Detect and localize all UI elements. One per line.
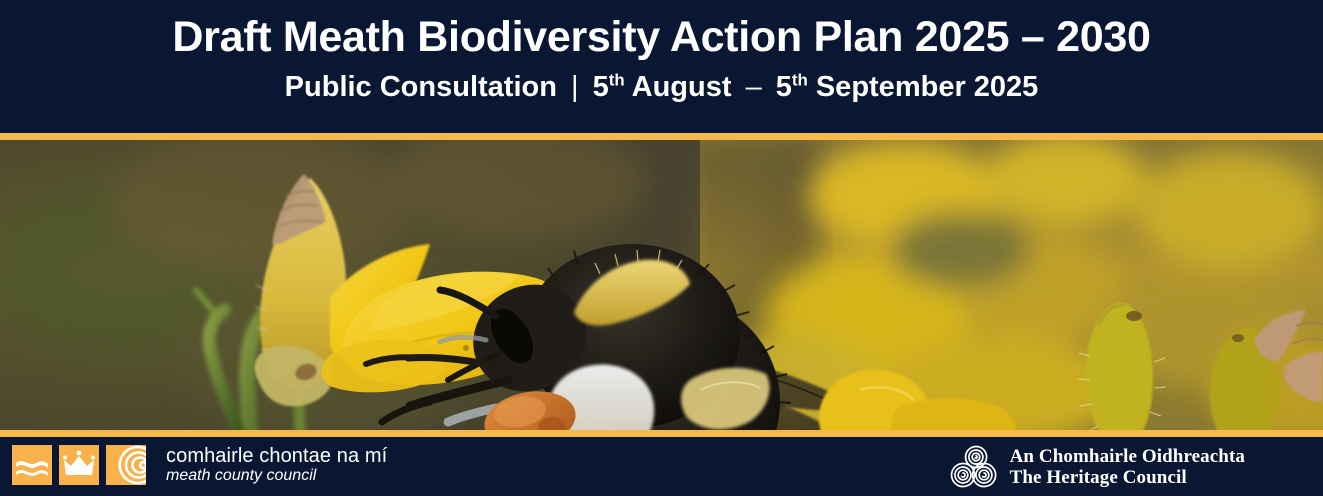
banner-header: Draft Meath Biodiversity Action Plan 202…	[0, 0, 1323, 133]
subtitle-ordinal-end: th	[792, 71, 808, 90]
mcc-name-irish: comhairle chontae na mí	[166, 445, 387, 467]
gold-divider-top	[0, 133, 1323, 140]
spiral-icon	[106, 445, 146, 485]
subtitle-day-start: 5	[593, 71, 609, 103]
meath-county-council-logo[interactable]: comhairle chontae na mí meath county cou…	[12, 445, 387, 485]
crown-icon	[59, 445, 99, 485]
hc-name-english: The Heritage Council	[1010, 467, 1245, 488]
heritage-council-wordmark: An Chomhairle Oidhreachta The Heritage C…	[1010, 446, 1245, 489]
hc-name-irish: An Chomhairle Oidhreachta	[1010, 446, 1245, 467]
page-title: Draft Meath Biodiversity Action Plan 202…	[172, 0, 1150, 60]
waves-icon	[12, 445, 52, 485]
subtitle-day-end: 5	[776, 71, 792, 103]
subtitle-month-end: September	[816, 71, 966, 103]
meath-county-council-wordmark: comhairle chontae na mí meath county cou…	[166, 445, 387, 485]
heritage-council-logo[interactable]: An Chomhairle Oidhreachta The Heritage C…	[950, 445, 1245, 489]
banner-footer: comhairle chontae na mí meath county cou…	[0, 437, 1323, 496]
gold-divider-bottom	[0, 430, 1323, 437]
biodiversity-plan-banner: Draft Meath Biodiversity Action Plan 202…	[0, 0, 1323, 496]
subtitle-dash: –	[740, 72, 768, 104]
subtitle-separator: |	[565, 72, 585, 104]
meath-county-council-marks	[12, 445, 146, 485]
subtitle-ordinal-start: th	[609, 71, 625, 90]
triskele-spiral-icon	[950, 445, 998, 489]
consultation-subtitle: Public Consultation | 5th August – 5th S…	[285, 60, 1039, 104]
bumblebee-photo	[0, 140, 1323, 430]
bumblebee-photo-illustration	[0, 140, 1323, 430]
subtitle-prefix: Public Consultation	[285, 71, 557, 103]
subtitle-year: 2025	[974, 71, 1039, 103]
subtitle-month-start: August	[632, 71, 732, 103]
mcc-name-english: meath county council	[166, 467, 387, 485]
